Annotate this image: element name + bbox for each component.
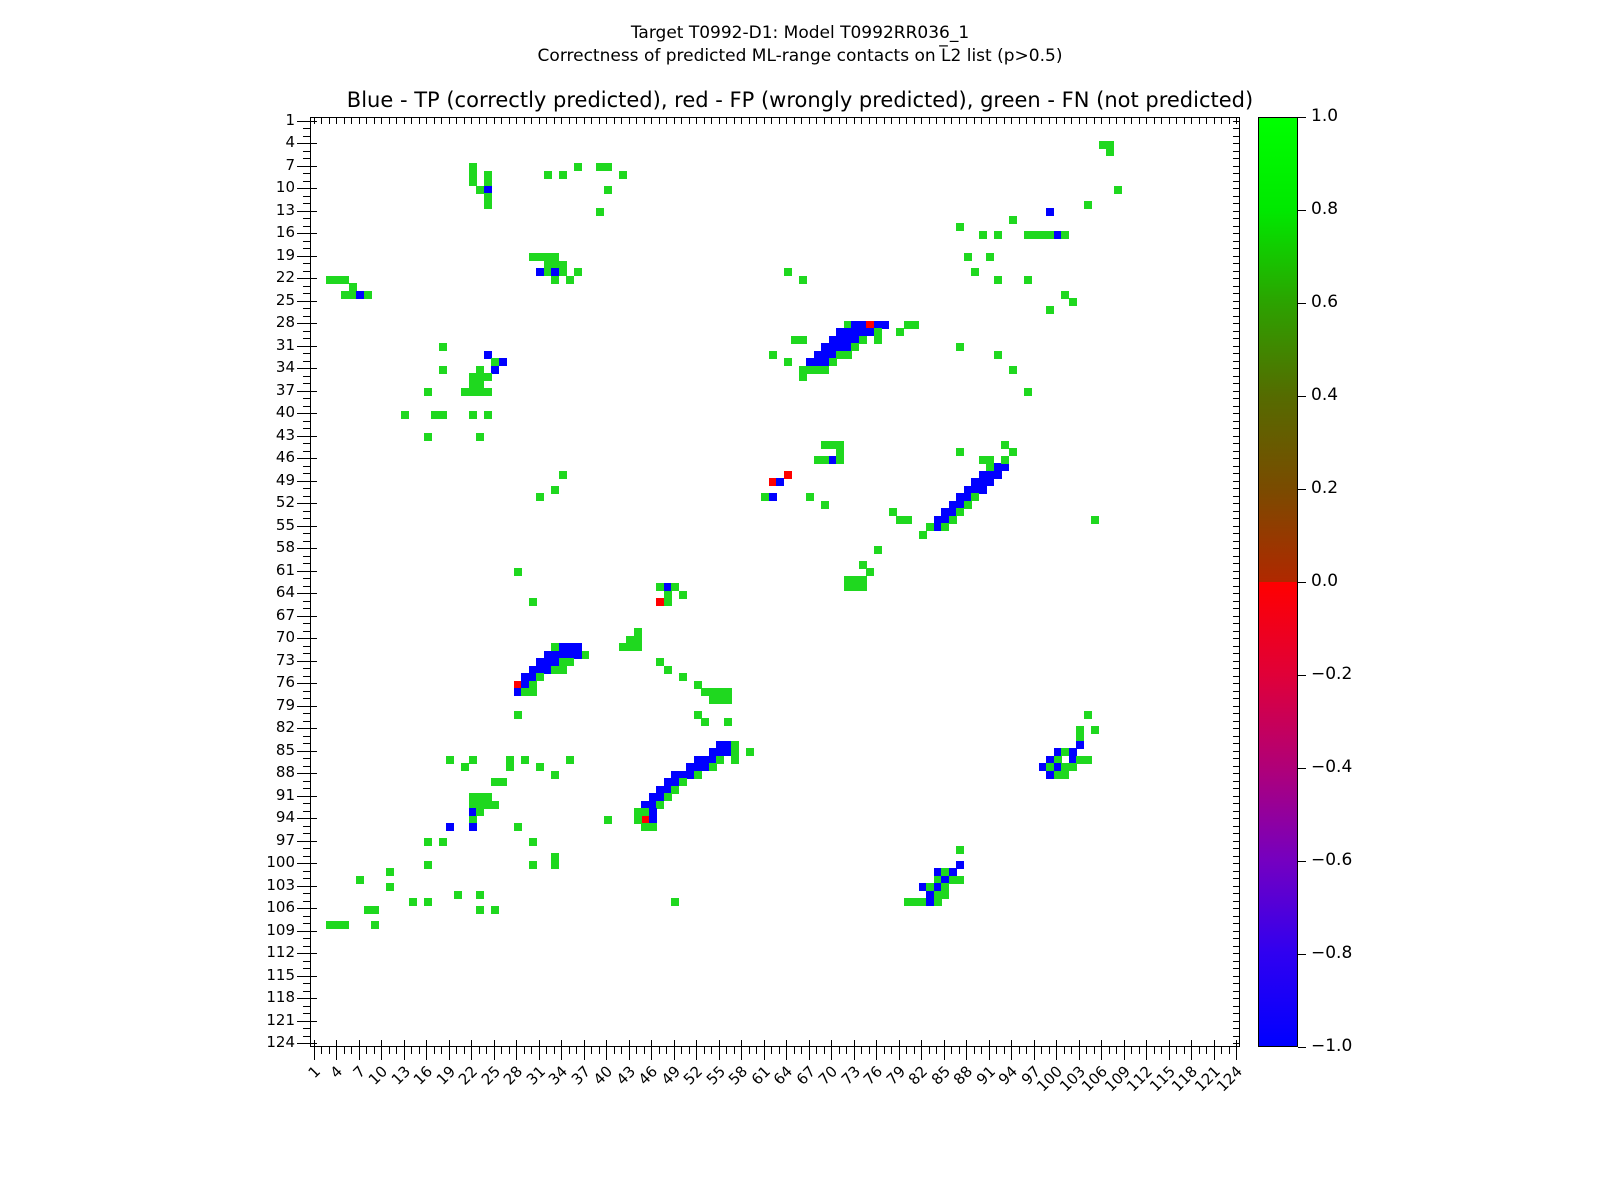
y-axis-label: 40	[235, 404, 295, 421]
y-axis-minor-tick	[303, 983, 310, 984]
x-axis-top-tick	[389, 117, 390, 124]
y-axis-tick	[297, 481, 310, 482]
contact-cell	[1031, 231, 1039, 239]
y-axis-tick	[297, 323, 310, 324]
contact-cell	[709, 763, 717, 771]
x-axis-top-tick	[996, 117, 997, 124]
x-axis-minor-tick	[756, 1047, 757, 1054]
chart-title-block: Target T0992-D1: Model T0992RR036_1 Corr…	[0, 22, 1600, 68]
x-axis-tick	[1079, 1047, 1080, 1060]
y-axis-tick	[297, 278, 310, 279]
x-axis-top-tick	[1034, 117, 1035, 124]
contact-cell	[679, 673, 687, 681]
x-axis-top-tick	[689, 117, 690, 124]
contact-cell	[364, 291, 372, 299]
x-axis-minor-tick	[464, 1047, 465, 1054]
y-axis-label: 91	[235, 787, 295, 804]
contact-cell	[506, 763, 514, 771]
y-axis-tick	[297, 346, 310, 347]
colorbar-label: −0.2	[1311, 665, 1352, 684]
x-axis-minor-tick	[734, 1047, 735, 1054]
y-axis-label: 82	[235, 719, 295, 736]
y-axis-tick-inner	[310, 616, 317, 617]
x-axis-top-tick	[741, 117, 742, 124]
x-axis-minor-tick	[1109, 1047, 1110, 1054]
y-axis-right-tick	[1233, 811, 1240, 812]
y-axis-minor-tick	[303, 136, 310, 137]
contact-map-plot[interactable]	[310, 117, 1240, 1047]
y-axis-tick	[297, 256, 310, 257]
y-axis-label: 58	[235, 539, 295, 556]
y-axis-minor-tick	[303, 893, 310, 894]
contact-cell	[529, 598, 537, 606]
y-axis-minor-tick	[303, 646, 310, 647]
x-axis-tick-inner	[1101, 1040, 1102, 1047]
x-axis-top-tick	[509, 117, 510, 124]
y-axis-tick	[297, 976, 310, 977]
x-axis-top-tick	[344, 117, 345, 124]
contact-cell	[551, 276, 559, 284]
y-axis-minor-tick	[303, 698, 310, 699]
y-axis-tick	[297, 863, 310, 864]
y-axis-tick-inner	[310, 706, 317, 707]
x-axis-top-tick	[891, 117, 892, 124]
contact-cell	[551, 771, 559, 779]
x-axis-tick-inner	[1056, 1040, 1057, 1047]
x-axis-minor-tick	[951, 1047, 952, 1054]
x-axis-top-tick	[966, 117, 967, 124]
y-axis-tick	[297, 616, 310, 617]
contact-cell	[904, 516, 912, 524]
y-axis-right-tick	[1233, 751, 1240, 752]
x-axis-tick	[1056, 1047, 1057, 1060]
y-axis-tick-inner	[310, 413, 317, 414]
x-axis-top-tick	[771, 117, 772, 124]
x-axis-minor-tick	[1064, 1047, 1065, 1054]
y-axis-right-tick	[1233, 796, 1240, 797]
y-axis-label: 115	[235, 967, 295, 984]
x-axis-tick-inner	[741, 1040, 742, 1047]
contact-cell	[476, 433, 484, 441]
y-axis-tick	[297, 188, 310, 189]
y-axis-right-tick	[1233, 488, 1240, 489]
x-axis-tick	[719, 1047, 720, 1060]
y-axis-minor-tick	[303, 1028, 310, 1029]
x-axis-tick-inner	[989, 1040, 990, 1047]
x-axis-top-tick	[374, 117, 375, 124]
y-axis-right-tick	[1233, 878, 1240, 879]
x-axis-top-tick	[1011, 117, 1012, 124]
contact-cell	[874, 336, 882, 344]
x-axis-tick-inner	[809, 1040, 810, 1047]
x-axis-tick-inner	[651, 1040, 652, 1047]
x-axis-minor-tick	[411, 1047, 412, 1054]
y-axis-tick	[297, 166, 310, 167]
contact-cell	[1024, 388, 1032, 396]
y-axis-tick	[297, 548, 310, 549]
x-axis-minor-tick	[614, 1047, 615, 1054]
y-axis-minor-tick	[303, 923, 310, 924]
y-axis-minor-tick	[303, 383, 310, 384]
x-axis-tick-inner	[1214, 1040, 1215, 1047]
colorbar-label: 1.0	[1311, 107, 1338, 126]
y-axis-right-tick	[1233, 931, 1240, 932]
target-model-title: Target T0992-D1: Model T0992RR036_1	[0, 22, 1600, 45]
x-axis-tick	[921, 1047, 922, 1060]
x-axis-top-tick	[779, 117, 780, 124]
x-axis-top-tick	[524, 117, 525, 124]
contact-cell	[769, 493, 777, 501]
x-axis-minor-tick	[891, 1047, 892, 1054]
y-axis-minor-tick	[303, 196, 310, 197]
x-axis-tick	[629, 1047, 630, 1060]
x-axis-top-tick	[734, 117, 735, 124]
y-axis-right-tick	[1233, 601, 1240, 602]
y-axis-tick-inner	[310, 211, 317, 212]
x-axis-minor-tick	[914, 1047, 915, 1054]
y-axis-minor-tick	[303, 766, 310, 767]
y-axis-label: 118	[235, 989, 295, 1006]
y-axis-tick	[297, 503, 310, 504]
y-axis-tick	[297, 301, 310, 302]
y-axis-right-tick	[1233, 938, 1240, 939]
x-axis-tick	[966, 1047, 967, 1060]
y-axis-label: 85	[235, 742, 295, 759]
y-axis-right-tick	[1233, 991, 1240, 992]
chart-subtitle: Correctness of predicted ML-range contac…	[0, 45, 1600, 68]
x-axis-tick	[899, 1047, 900, 1060]
x-axis-top-tick	[599, 117, 600, 124]
contact-cell	[784, 358, 792, 366]
x-axis-tick-inner	[944, 1040, 945, 1047]
contact-cell	[386, 868, 394, 876]
x-axis-tick	[741, 1047, 742, 1060]
y-axis-minor-tick	[303, 241, 310, 242]
y-axis-tick	[297, 773, 310, 774]
y-axis-right-tick	[1233, 871, 1240, 872]
y-axis-minor-tick	[303, 128, 310, 129]
y-axis-label: 31	[235, 337, 295, 354]
y-axis-minor-tick	[303, 203, 310, 204]
contact-cell	[514, 711, 522, 719]
y-axis-minor-tick	[303, 398, 310, 399]
y-axis-right-tick	[1233, 818, 1240, 819]
y-axis-tick-inner	[310, 593, 317, 594]
x-axis-top-tick	[636, 117, 637, 124]
contact-cell	[731, 756, 739, 764]
x-axis-tick-inner	[516, 1040, 517, 1047]
y-axis-right-tick	[1233, 886, 1240, 887]
x-axis-top-tick	[516, 117, 517, 124]
y-axis-tick-inner	[310, 1043, 317, 1044]
x-axis-minor-tick	[1176, 1047, 1177, 1054]
contact-cell	[581, 651, 589, 659]
y-axis-minor-tick	[303, 803, 310, 804]
contact-cell	[424, 433, 432, 441]
contact-cell	[784, 268, 792, 276]
x-axis-tick-inner	[426, 1040, 427, 1047]
x-axis-top-tick	[824, 117, 825, 124]
y-axis-minor-tick	[303, 578, 310, 579]
y-axis-right-tick	[1233, 278, 1240, 279]
x-axis-tick	[831, 1047, 832, 1060]
y-axis-minor-tick	[303, 173, 310, 174]
y-axis-minor-tick	[303, 263, 310, 264]
y-axis-right-tick	[1233, 301, 1240, 302]
y-axis-right-tick	[1233, 1036, 1240, 1037]
contact-cell	[386, 883, 394, 891]
y-axis-minor-tick	[303, 466, 310, 467]
y-axis-tick	[297, 661, 310, 662]
y-axis-minor-tick	[303, 473, 310, 474]
x-axis-minor-tick	[366, 1047, 367, 1054]
contact-cell	[971, 268, 979, 276]
contact-cell	[551, 861, 559, 869]
x-axis-minor-tick	[1026, 1047, 1027, 1054]
x-axis-top-tick	[366, 117, 367, 124]
contact-cell	[769, 351, 777, 359]
y-axis-label: 7	[235, 157, 295, 174]
y-axis-minor-tick	[303, 848, 310, 849]
x-axis-tick-inner	[719, 1040, 720, 1047]
colorbar-tick	[1298, 396, 1306, 397]
contact-cell	[776, 478, 784, 486]
x-axis-top-tick	[959, 117, 960, 124]
y-axis-right-tick	[1233, 308, 1240, 309]
y-axis-minor-tick	[303, 623, 310, 624]
y-axis-minor-tick	[303, 421, 310, 422]
contact-cell	[679, 591, 687, 599]
x-axis-minor-tick	[974, 1047, 975, 1054]
contact-cell	[664, 793, 672, 801]
contact-cell	[484, 171, 492, 179]
contact-cell	[424, 838, 432, 846]
x-axis-top-tick	[411, 117, 412, 124]
y-axis-minor-tick	[303, 293, 310, 294]
y-axis-tick-inner	[310, 796, 317, 797]
contact-cell	[1091, 726, 1099, 734]
x-axis-top-tick	[396, 117, 397, 124]
contact-cell	[1084, 756, 1092, 764]
x-axis-minor-tick	[659, 1047, 660, 1054]
y-axis-tick-inner	[310, 301, 317, 302]
y-axis-minor-tick	[303, 533, 310, 534]
contact-cell	[514, 568, 522, 576]
y-axis-right-tick	[1233, 526, 1240, 527]
x-axis-tick-inner	[471, 1040, 472, 1047]
y-axis-minor-tick	[303, 1013, 310, 1014]
x-axis-top-tick	[794, 117, 795, 124]
contact-cell	[1069, 298, 1077, 306]
contact-cell	[1024, 231, 1032, 239]
x-axis-tick	[1011, 1047, 1012, 1060]
y-axis-right-tick	[1233, 533, 1240, 534]
x-axis-top-tick	[1041, 117, 1042, 124]
y-axis-tick-inner	[310, 526, 317, 527]
x-axis-minor-tick	[524, 1047, 525, 1054]
x-axis-minor-tick	[704, 1047, 705, 1054]
x-axis-tick-inner	[336, 1040, 337, 1047]
y-axis-label: 61	[235, 562, 295, 579]
y-axis-minor-tick	[303, 781, 310, 782]
x-axis-minor-tick	[681, 1047, 682, 1054]
y-axis-tick-inner	[310, 436, 317, 437]
contact-cell	[439, 838, 447, 846]
y-axis-tick-inner	[310, 233, 317, 234]
contact-cell	[656, 801, 664, 809]
y-axis-right-tick	[1233, 608, 1240, 609]
y-axis-tick-inner	[310, 818, 317, 819]
x-axis-minor-tick	[644, 1047, 645, 1054]
contact-cell	[949, 516, 957, 524]
colorbar-tick	[1298, 861, 1306, 862]
y-axis-right-tick	[1233, 173, 1240, 174]
y-axis-label: 88	[235, 764, 295, 781]
y-axis-tick	[297, 391, 310, 392]
y-axis-label: 46	[235, 449, 295, 466]
y-axis-right-tick	[1233, 968, 1240, 969]
colorbar-label: −0.4	[1311, 758, 1352, 777]
x-axis-minor-tick	[929, 1047, 930, 1054]
contact-cell	[461, 763, 469, 771]
x-axis-top-tick	[861, 117, 862, 124]
contact-cell	[1001, 456, 1009, 464]
y-axis-right-tick	[1233, 548, 1240, 549]
colorbar-tick	[1298, 582, 1306, 583]
x-axis-tick-inner	[1191, 1040, 1192, 1047]
y-axis-tick	[297, 121, 310, 122]
y-axis-right-tick	[1233, 841, 1240, 842]
y-axis-minor-tick	[303, 668, 310, 669]
x-axis-minor-tick	[1161, 1047, 1162, 1054]
x-axis-top-tick	[351, 117, 352, 124]
y-axis-label: 109	[235, 922, 295, 939]
y-axis-right-tick	[1233, 406, 1240, 407]
x-axis-top-tick	[681, 117, 682, 124]
x-axis-top-tick	[1071, 117, 1072, 124]
x-axis-top-tick	[381, 117, 382, 124]
x-axis-top-tick	[674, 117, 675, 124]
y-axis-tick-inner	[310, 998, 317, 999]
y-axis-right-tick	[1233, 721, 1240, 722]
x-axis-top-tick	[1079, 117, 1080, 124]
y-axis-tick-inner	[310, 728, 317, 729]
x-axis-top-tick	[696, 117, 697, 124]
x-axis-top-tick	[1064, 117, 1065, 124]
y-axis-right-tick	[1233, 383, 1240, 384]
x-axis-minor-tick	[396, 1047, 397, 1054]
x-axis-tick-inner	[876, 1040, 877, 1047]
x-axis-top-tick	[1206, 117, 1207, 124]
contact-cell	[806, 493, 814, 501]
y-axis-tick-inner	[310, 188, 317, 189]
y-axis-right-tick	[1233, 593, 1240, 594]
y-axis-tick	[297, 796, 310, 797]
y-axis-minor-tick	[303, 541, 310, 542]
y-axis-label: 49	[235, 472, 295, 489]
contact-cell	[964, 253, 972, 261]
contact-cell	[829, 358, 837, 366]
x-axis-top-tick	[1109, 117, 1110, 124]
contact-cell	[1061, 231, 1069, 239]
contact-cell	[634, 643, 642, 651]
x-axis-top-tick	[546, 117, 547, 124]
contact-cell	[821, 501, 829, 509]
y-axis-tick	[297, 211, 310, 212]
y-axis-tick	[297, 841, 310, 842]
y-axis-right-tick	[1233, 826, 1240, 827]
y-axis-label: 97	[235, 832, 295, 849]
y-axis-right-tick	[1233, 691, 1240, 692]
contact-cell	[634, 808, 642, 816]
x-axis-top-tick	[816, 117, 817, 124]
y-axis-right-tick	[1233, 953, 1240, 954]
contact-cell	[821, 366, 829, 374]
y-axis-right-tick	[1233, 683, 1240, 684]
color-legend-text: Blue - TP (correctly predicted), red - F…	[0, 88, 1600, 112]
x-axis-minor-tick	[981, 1047, 982, 1054]
y-axis-right-tick	[1233, 481, 1240, 482]
x-axis-minor-tick	[846, 1047, 847, 1054]
x-axis-tick	[449, 1047, 450, 1060]
x-axis-top-tick	[1086, 117, 1087, 124]
y-axis-minor-tick	[303, 556, 310, 557]
y-axis-tick	[297, 683, 310, 684]
x-axis-minor-tick	[531, 1047, 532, 1054]
y-axis-right-tick	[1233, 421, 1240, 422]
y-axis-tick-inner	[310, 458, 317, 459]
contact-cell	[724, 718, 732, 726]
x-axis-tick	[854, 1047, 855, 1060]
y-axis-right-tick	[1233, 1043, 1240, 1044]
y-axis-right-tick	[1233, 241, 1240, 242]
x-axis-top-tick	[629, 117, 630, 124]
y-axis-right-tick	[1233, 661, 1240, 662]
x-axis-top-tick	[726, 117, 727, 124]
x-axis-tick	[1191, 1047, 1192, 1060]
x-axis-top-tick	[1161, 117, 1162, 124]
y-axis-minor-tick	[303, 271, 310, 272]
y-axis-right-tick	[1233, 143, 1240, 144]
x-axis-top-tick	[756, 117, 757, 124]
y-axis-tick	[297, 638, 310, 639]
x-axis-minor-tick	[501, 1047, 502, 1054]
y-axis-tick-inner	[310, 278, 317, 279]
y-axis-label: 43	[235, 427, 295, 444]
y-axis-right-tick	[1233, 556, 1240, 557]
contact-cell	[446, 823, 454, 831]
x-axis-minor-tick	[1086, 1047, 1087, 1054]
x-axis-minor-tick	[689, 1047, 690, 1054]
y-axis-minor-tick	[303, 743, 310, 744]
x-axis-top-tick	[801, 117, 802, 124]
contact-cell	[341, 921, 349, 929]
contact-cell	[536, 673, 544, 681]
x-axis-top-tick	[621, 117, 622, 124]
contact-cell	[1009, 216, 1017, 224]
x-axis-top-tick	[1124, 117, 1125, 124]
x-axis-minor-tick	[959, 1047, 960, 1054]
contact-cell	[1046, 231, 1054, 239]
y-axis-right-tick	[1233, 916, 1240, 917]
contact-cell	[649, 823, 657, 831]
contact-cell	[799, 276, 807, 284]
contact-cell	[934, 898, 942, 906]
colorbar-tick	[1298, 768, 1306, 769]
x-axis-minor-tick	[794, 1047, 795, 1054]
x-axis-tick	[1169, 1047, 1170, 1060]
x-axis-top-tick	[1094, 117, 1095, 124]
